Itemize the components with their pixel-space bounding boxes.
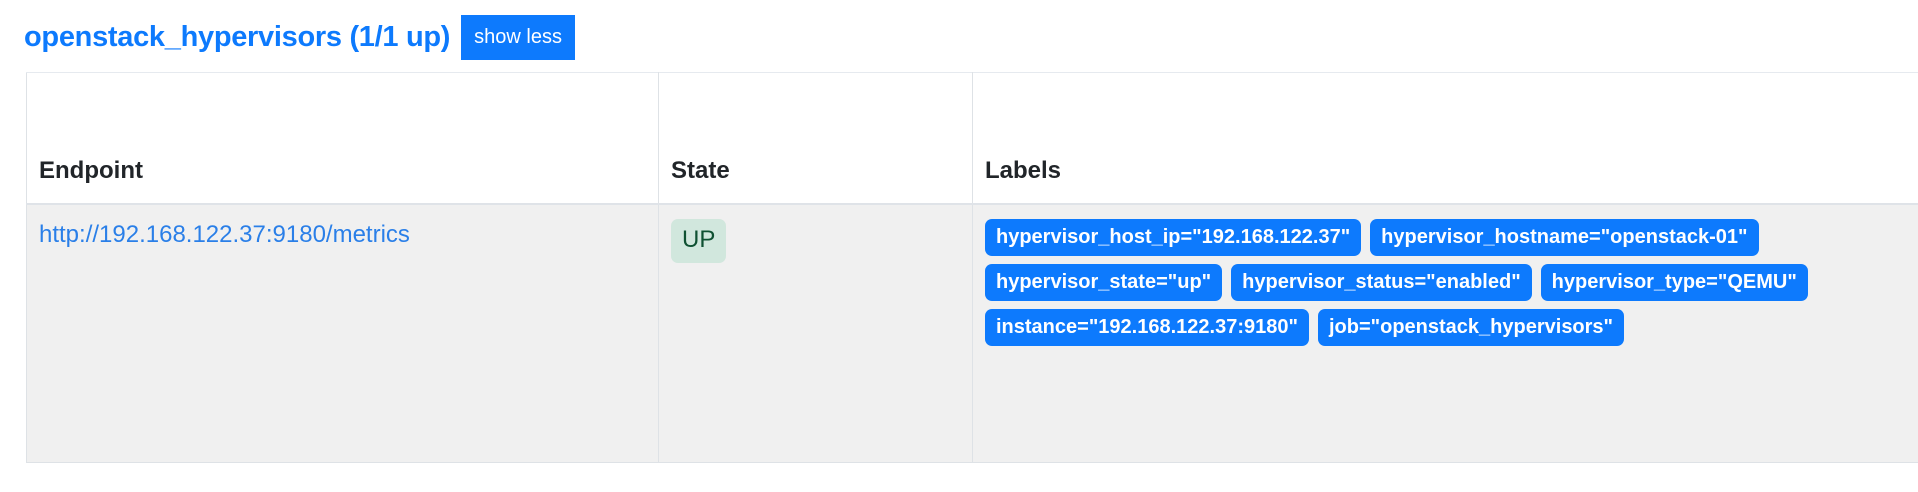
labels-cell: hypervisor_host_ip="192.168.122.37" hype…: [973, 204, 1918, 463]
targets-table: Endpoint State Labels http://192.168.122…: [26, 72, 1918, 463]
column-header-labels: Labels: [973, 73, 1918, 204]
column-header-endpoint: Endpoint: [27, 73, 659, 204]
label-badge[interactable]: hypervisor_state="up": [985, 264, 1222, 301]
label-badge[interactable]: hypervisor_status="enabled": [1231, 264, 1532, 301]
show-less-button[interactable]: show less: [461, 15, 575, 60]
page-title: openstack_hypervisors (1/1 up): [24, 23, 450, 52]
label-badge[interactable]: hypervisor_hostname="openstack-01": [1370, 219, 1758, 256]
column-header-state: State: [659, 73, 973, 204]
table-header: Endpoint State Labels: [27, 73, 1918, 204]
endpoint-link[interactable]: http://192.168.122.37:9180/metrics: [39, 221, 410, 248]
status-badge: UP: [671, 219, 726, 263]
targets-job-panel: openstack_hypervisors (1/1 up) show less…: [0, 0, 1918, 492]
label-badge[interactable]: hypervisor_host_ip="192.168.122.37": [985, 219, 1361, 256]
label-badge[interactable]: hypervisor_type="QEMU": [1541, 264, 1808, 301]
job-header: openstack_hypervisors (1/1 up) show less: [24, 14, 575, 60]
labels-list: hypervisor_host_ip="192.168.122.37" hype…: [985, 219, 1914, 346]
label-badge[interactable]: job="openstack_hypervisors": [1318, 309, 1624, 346]
label-badge[interactable]: instance="192.168.122.37:9180": [985, 309, 1309, 346]
table-header-row: Endpoint State Labels: [27, 73, 1918, 204]
state-cell: UP: [659, 204, 973, 463]
table-row: http://192.168.122.37:9180/metrics UP hy…: [27, 204, 1918, 463]
table-body: http://192.168.122.37:9180/metrics UP hy…: [27, 204, 1918, 463]
endpoint-cell: http://192.168.122.37:9180/metrics: [27, 204, 659, 463]
